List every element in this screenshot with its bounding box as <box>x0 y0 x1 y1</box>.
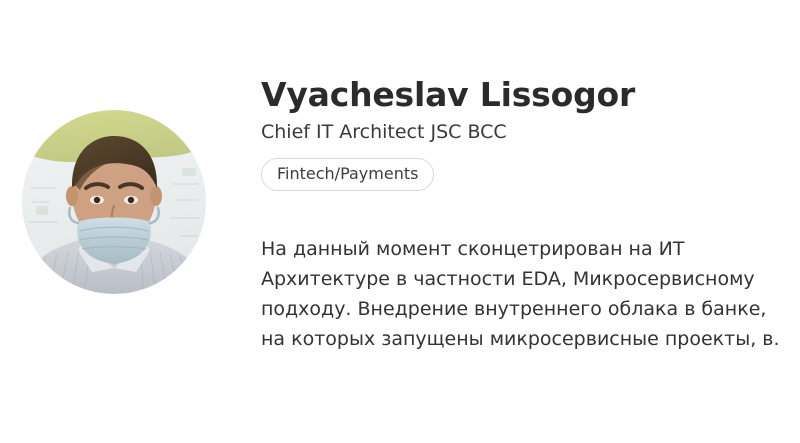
speaker-info: Vyacheslav Lissogor Chief IT Architect J… <box>261 76 781 354</box>
speaker-profile-card: Vyacheslav Lissogor Chief IT Architect J… <box>0 0 800 443</box>
speaker-portrait <box>22 110 206 294</box>
speaker-title: Chief IT Architect JSC BCC <box>261 120 781 145</box>
avatar <box>22 110 206 294</box>
tag-list: Fintech/Payments <box>261 158 781 191</box>
speaker-name: Vyacheslav Lissogor <box>261 76 781 115</box>
speaker-bio: На данный момент сконцетрирован на ИТ Ар… <box>261 234 781 354</box>
tag-fintech-payments[interactable]: Fintech/Payments <box>261 158 434 191</box>
